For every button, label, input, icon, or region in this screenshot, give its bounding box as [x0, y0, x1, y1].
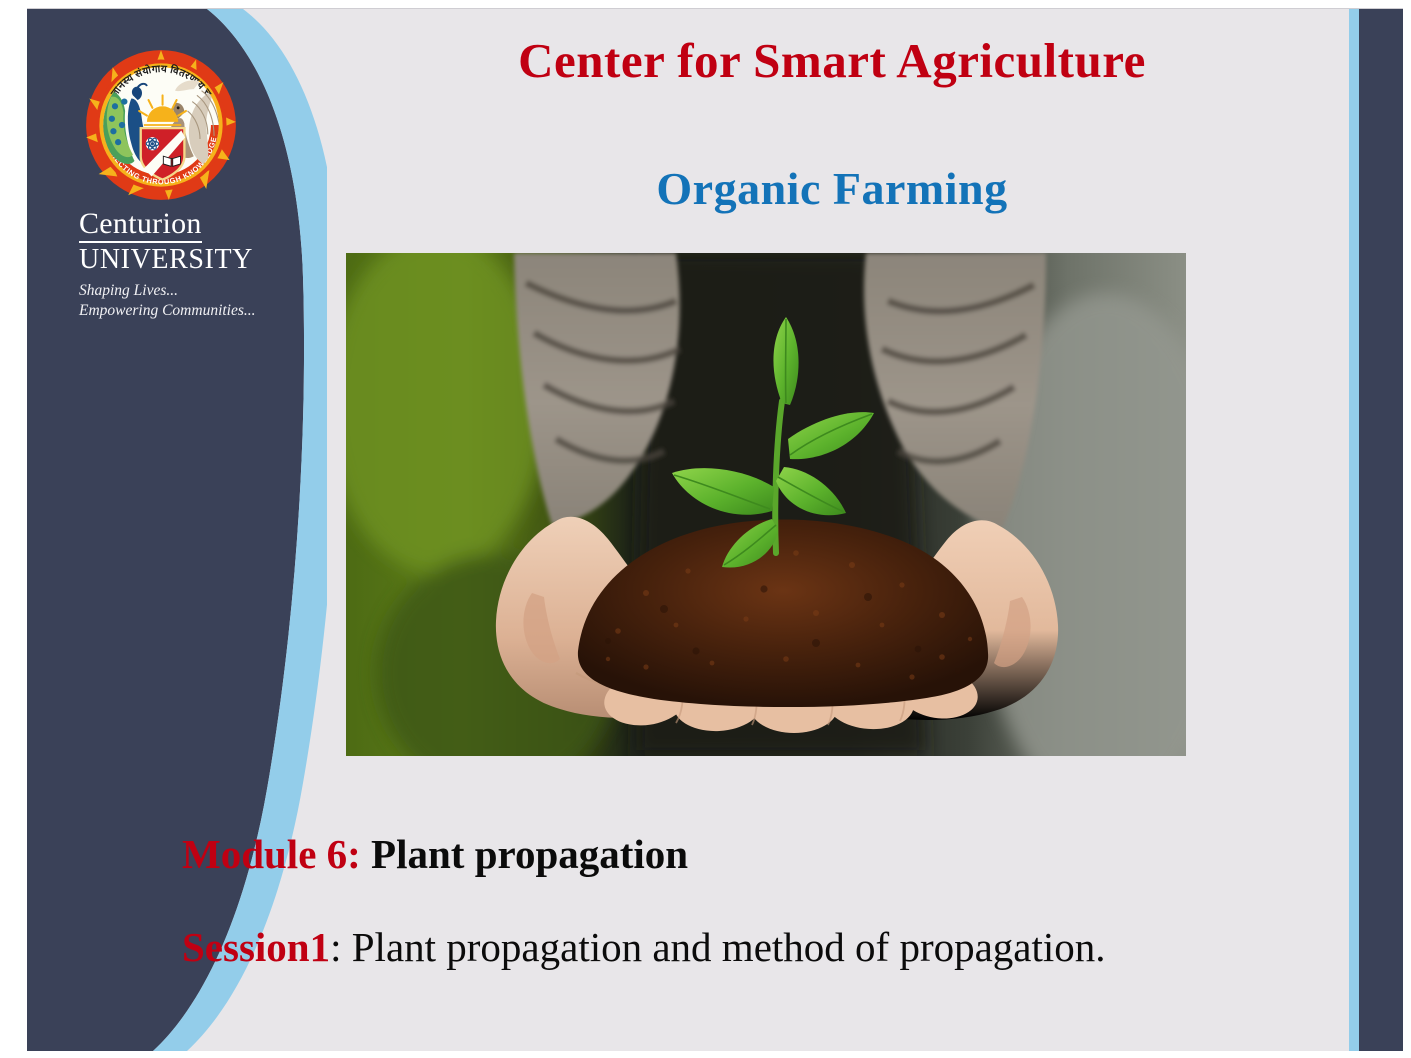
seedling-photo-illustration: [346, 253, 1186, 756]
wordmark-centurion: Centurion: [79, 209, 202, 243]
slide-heading-group: Center for Smart Agriculture Organic Far…: [327, 33, 1337, 216]
tagline-line-1: Shaping Lives...: [79, 281, 268, 301]
centurion-university-crest-icon: ज्ञानस्य संयोगाय वितरणाय च CONNECTING TH…: [83, 47, 239, 203]
module-line: Module 6: Plant propagation: [182, 829, 1332, 880]
wordmark-university: UNIVERSITY: [79, 245, 268, 274]
right-navy-bar: [1359, 9, 1403, 1051]
tagline-line-2: Empowering Communities...: [79, 301, 268, 321]
module-text: Plant propagation: [361, 831, 688, 877]
university-wordmark: Centurion UNIVERSITY Shaping Lives... Em…: [53, 209, 268, 321]
module-label: Module 6:: [182, 831, 361, 877]
right-light-blue-bar: [1349, 9, 1359, 1051]
hands-holding-seedling-photo: [346, 253, 1186, 756]
session-line: Session1: Plant propagation and method o…: [182, 922, 1332, 973]
session-text: : Plant propagation and method of propag…: [330, 924, 1105, 970]
session-label: Session1: [182, 924, 330, 970]
slide-body-text: Module 6: Plant propagation Session1: Pl…: [182, 829, 1332, 974]
presentation-slide: ज्ञानस्य संयोगाय वितरणाय च CONNECTING TH…: [27, 8, 1403, 1051]
page-title: Center for Smart Agriculture: [327, 33, 1337, 89]
university-logo: ज्ञानस्य संयोगाय वितरणाय च CONNECTING TH…: [53, 47, 268, 321]
page-subtitle: Organic Farming: [327, 163, 1337, 216]
